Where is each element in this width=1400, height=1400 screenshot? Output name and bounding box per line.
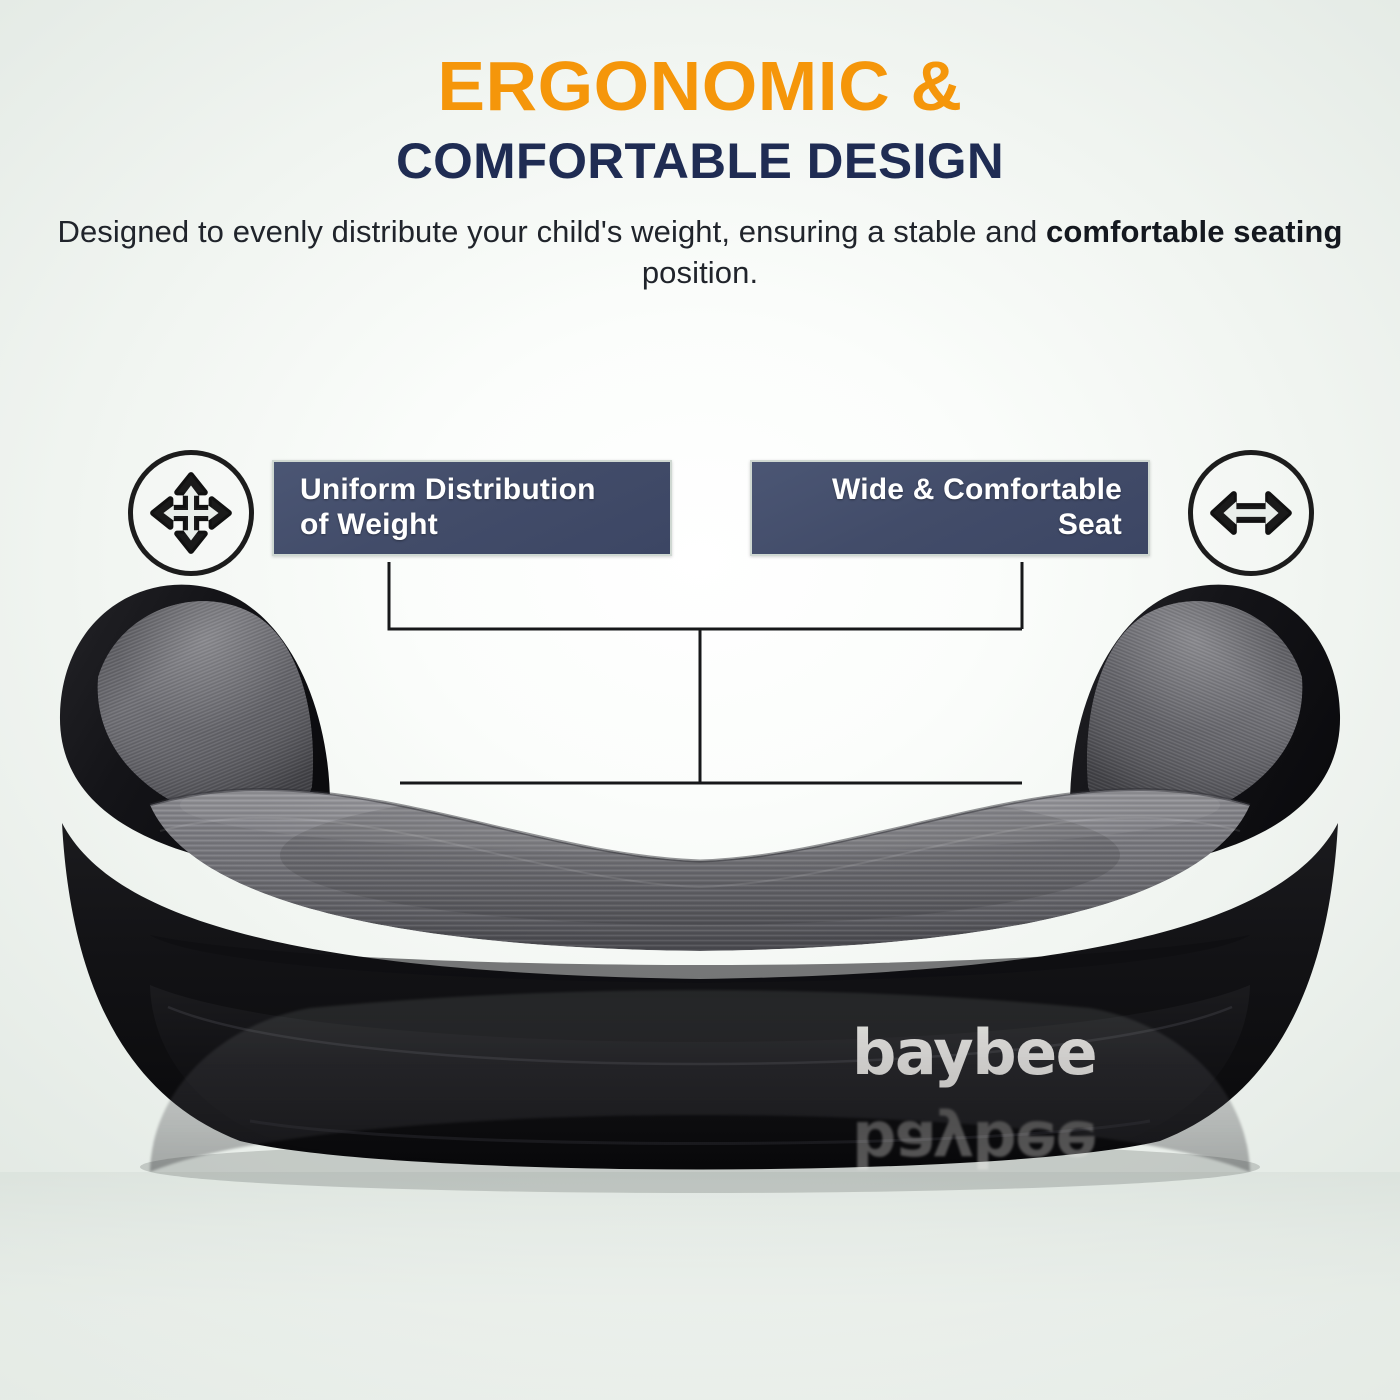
header: ERGONOMIC & COMFORTABLE DESIGN Designed …: [0, 0, 1400, 294]
subtitle-text-part1: Designed to evenly distribute your child…: [57, 214, 1046, 249]
subtitle-text-emphasis: comfortable seating: [1046, 214, 1342, 249]
floor-plane: [0, 1172, 1400, 1400]
feature-badge-right-line1: Wide & Comfortable: [832, 473, 1122, 508]
page-title-secondary: COMFORTABLE DESIGN: [0, 131, 1400, 191]
reflection-shape: [0, 872, 1400, 1172]
feature-badge-right[interactable]: Wide & Comfortable Seat: [750, 460, 1150, 556]
reflection-brand-logo: baybee: [852, 1112, 1096, 1174]
feature-badge-left-line1: Uniform Distribution: [300, 473, 596, 508]
feature-badge-left-line2: of Weight: [300, 508, 438, 543]
feature-badge-right-line2: Seat: [1058, 508, 1122, 543]
move-four-way-arrows-icon: [148, 470, 234, 556]
feature-badge-left[interactable]: Uniform Distribution of Weight: [272, 460, 672, 556]
horizontal-double-arrow-icon: [1208, 470, 1294, 556]
subtitle-text-part2: position.: [642, 255, 758, 290]
reflection-brand-logo-text: baybee: [852, 1112, 1096, 1174]
product-reflection: baybee: [0, 872, 1400, 1172]
page-title-primary: ERGONOMIC &: [0, 52, 1400, 121]
page-subtitle: Designed to evenly distribute your child…: [0, 211, 1400, 294]
product-marketing-image: ERGONOMIC & COMFORTABLE DESIGN Designed …: [0, 0, 1400, 1400]
